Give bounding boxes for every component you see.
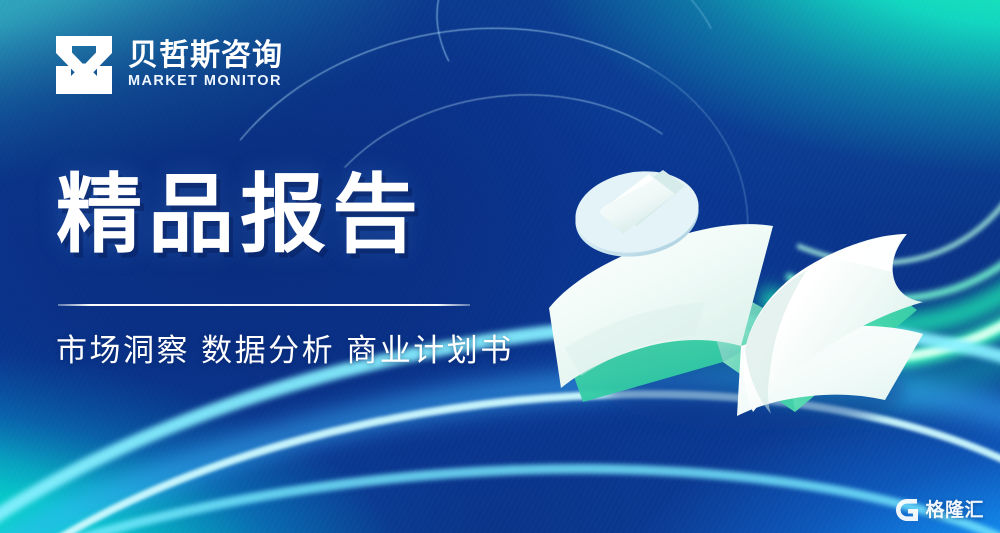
brand-name-cn: 贝哲斯咨询 — [128, 41, 283, 71]
banner-content: 贝哲斯咨询 MARKET MONITOR 精品报告 市场洞察 数据分析 商业计划… — [56, 0, 526, 533]
subtitle: 市场洞察 数据分析 商业计划书 — [56, 332, 514, 371]
brand-name-en: MARKET MONITOR — [128, 74, 283, 89]
brand-logo[interactable]: 贝哲斯咨询 MARKET MONITOR — [56, 36, 283, 94]
watermark: 格隆汇 — [896, 499, 984, 521]
report-banner: 贝哲斯咨询 MARKET MONITOR 精品报告 市场洞察 数据分析 商业计划… — [0, 0, 1000, 533]
watermark-label: 格隆汇 — [925, 501, 984, 520]
page-title: 精品报告 — [56, 168, 424, 263]
title-divider — [58, 304, 470, 306]
market-monitor-m-logo-icon — [56, 36, 112, 94]
open-book-illustration — [545, 150, 945, 440]
gelonghui-g-logo-icon — [896, 499, 918, 521]
brand-logo-text: 贝哲斯咨询 MARKET MONITOR — [128, 41, 283, 89]
